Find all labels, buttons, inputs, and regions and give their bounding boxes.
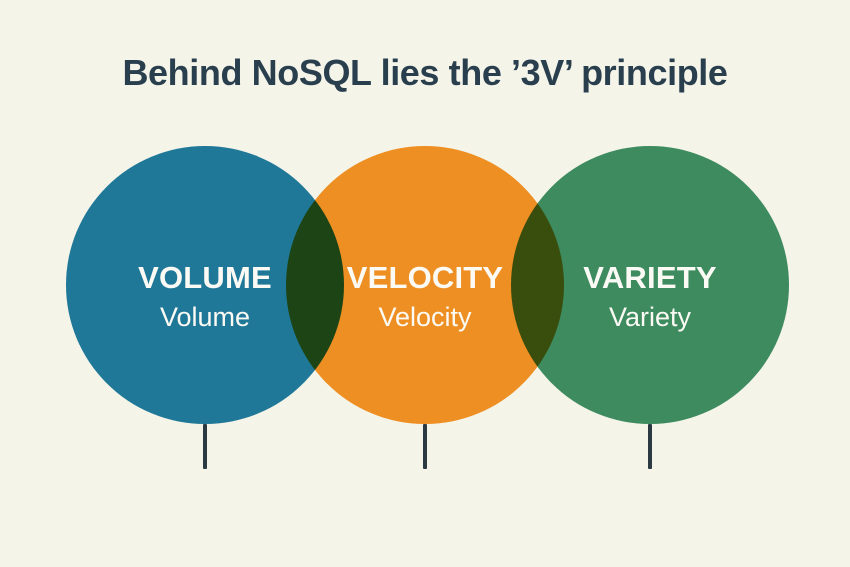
venn-circle-layer xyxy=(0,0,850,567)
venn-circle-variety[interactable] xyxy=(511,146,789,424)
diagram-canvas: Behind NoSQL lies the ’3V’ principle VOL… xyxy=(0,0,850,567)
venn-diagram: VOLUME Volume VELOCITY Velocity VARIETY … xyxy=(0,0,850,567)
